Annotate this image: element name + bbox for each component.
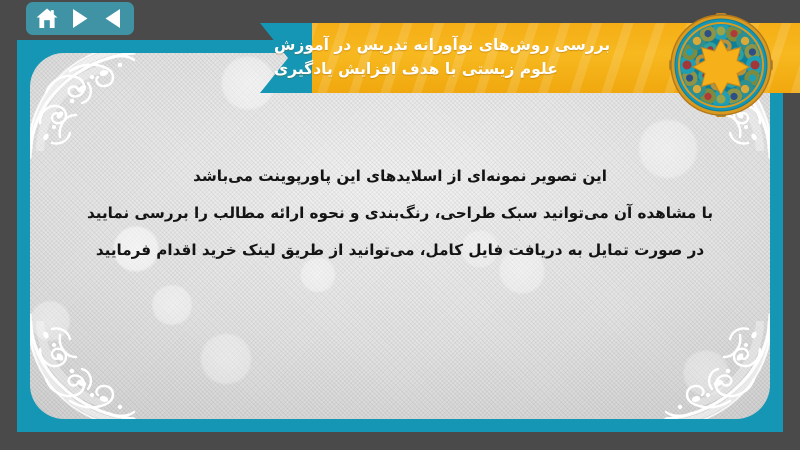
slide-bottom-edge xyxy=(17,432,783,438)
navigation-bar xyxy=(26,2,134,35)
slide-background xyxy=(30,53,770,419)
home-icon xyxy=(36,8,58,29)
persian-medallion-icon xyxy=(669,13,773,117)
triangle-left-icon xyxy=(104,9,121,28)
forward-button[interactable] xyxy=(67,7,93,31)
triangle-right-icon xyxy=(72,9,89,28)
banner-arrow-tail xyxy=(260,23,320,93)
slide-viewer: این تصویر نمونه‌ای از اسلایدهای این پاور… xyxy=(0,0,800,450)
back-button[interactable] xyxy=(100,7,126,31)
home-button[interactable] xyxy=(34,7,60,31)
